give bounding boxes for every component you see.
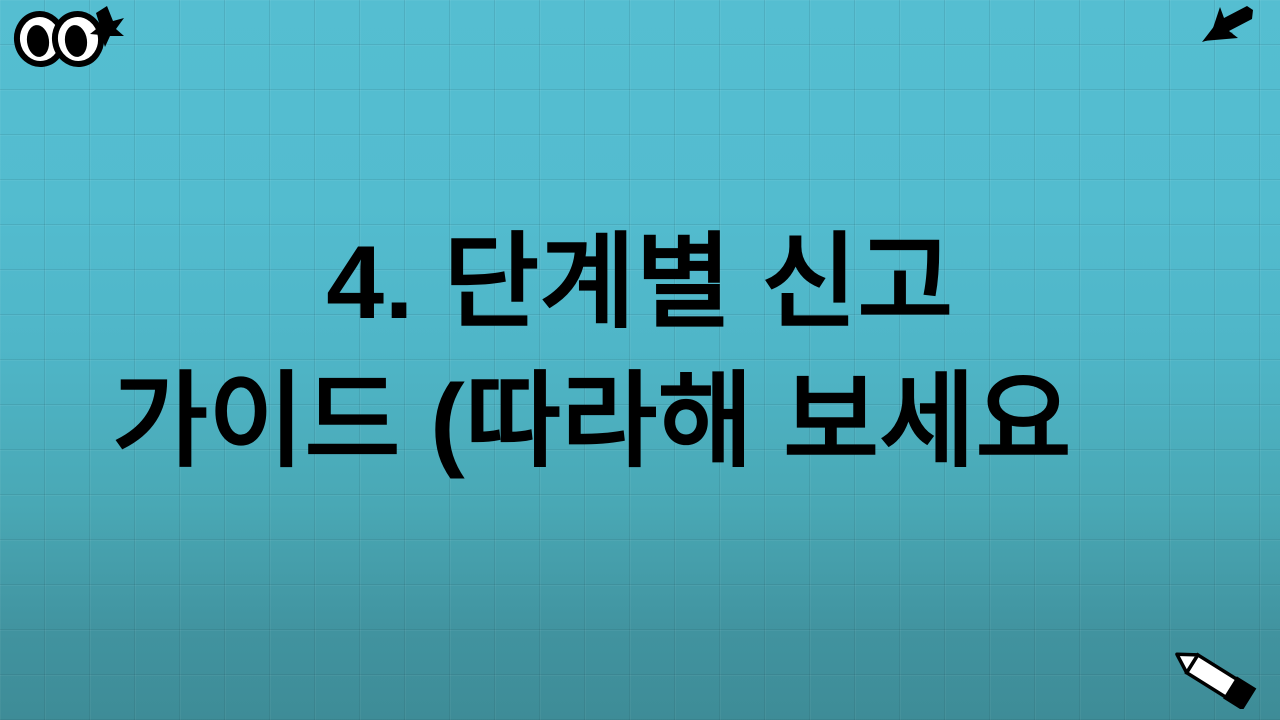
pencil-decoration	[1168, 647, 1260, 714]
cursor-arrow	[1200, 4, 1256, 53]
title-line-2: 가이드 (따라해 보세요	[0, 353, 1280, 492]
title-line-1: 4. 단계별 신고	[0, 214, 1280, 353]
page-title: 4. 단계별 신고 가이드 (따라해 보세요	[0, 214, 1280, 493]
arrow-icon	[1200, 4, 1256, 48]
slide-canvas: 4. 단계별 신고 가이드 (따라해 보세요	[0, 0, 1280, 720]
cartoon-eyes-icon	[6, 2, 124, 68]
pencil-icon	[1168, 647, 1260, 709]
eyes-logo	[6, 2, 124, 73]
